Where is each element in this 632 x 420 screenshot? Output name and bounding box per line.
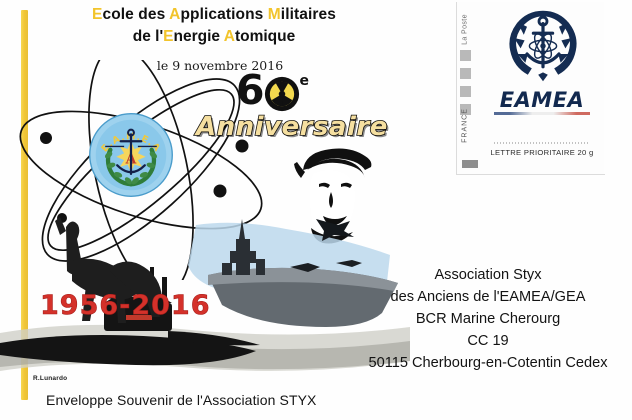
page-title: Ecole des Applications Militaires de l'E… [34,6,394,47]
stamp-side-strip: La Poste FRANCE [456,2,478,174]
eamea-badge: E.A.M.E.A A [88,112,174,198]
title-text-4: de l' [133,28,163,45]
title-text-2: pplications [180,6,267,23]
anniversary-number: 6 e [236,72,308,110]
stamp-microtext-line [494,142,590,144]
stamp-country-label: FRANCE [462,100,469,152]
title-initial-a: A [169,6,180,23]
title-line-2: de l'Energie Atomique [34,28,394,47]
address-line-3: BCR Marine Cherourg [352,309,624,331]
stamp-square-2 [460,68,471,79]
address-line-2: des Anciens de l'EAMEA/GEA [352,287,624,309]
stamp-emblem-title: EAMEA [480,88,604,112]
artist-signature: R.Lunardo [33,375,67,382]
anniversary-word: Anniversaire [196,112,388,142]
anniversary-years: 1956-2016 [40,290,211,321]
address-line-4: CC 19 [352,331,624,353]
title-text-6: tomique [235,28,295,45]
title-line-1: Ecole des Applications Militaires [34,6,394,25]
stamp-service-label: LETTRE PRIORITAIRE 20 g [480,148,604,157]
envelope-caption: Enveloppe Souvenir de l'Association STYX [46,392,317,408]
title-initial-e: E [92,6,102,23]
title-text-1: cole des [102,6,169,23]
envelope-souvenir: Ecole des Applications Militaires de l'E… [0,0,632,420]
anniversary-superscript: e [300,74,309,88]
title-initial-e2: E [163,28,173,45]
title-initial-m: M [268,6,281,23]
stamp-square-1 [460,50,471,61]
stamp-bar-mark [462,160,478,168]
french-tricolor-bar [494,112,590,115]
title-text-5: nergie [174,28,224,45]
address-line-5: 50115 Cherbourg-en-Cotentin Cedex [352,353,624,375]
address-line-1: Association Styx [352,265,624,287]
address-block: Association Styx des Anciens de l'EAMEA/… [352,265,624,374]
postage-stamp: La Poste FRANCE [456,2,604,174]
eamea-anchor-atom-emblem-icon [502,6,584,86]
title-initial-a2: A [224,28,235,45]
stamp-main-area: EAMEA LETTRE PRIORITAIRE 20 g [480,2,604,174]
radiation-trefoil-icon [264,74,300,110]
anniversary-digit-six: 6 [236,72,264,110]
stamp-square-3 [460,86,471,97]
title-text-3: ilitaires [281,6,336,23]
stamp-operator-label: La Poste [462,4,469,56]
